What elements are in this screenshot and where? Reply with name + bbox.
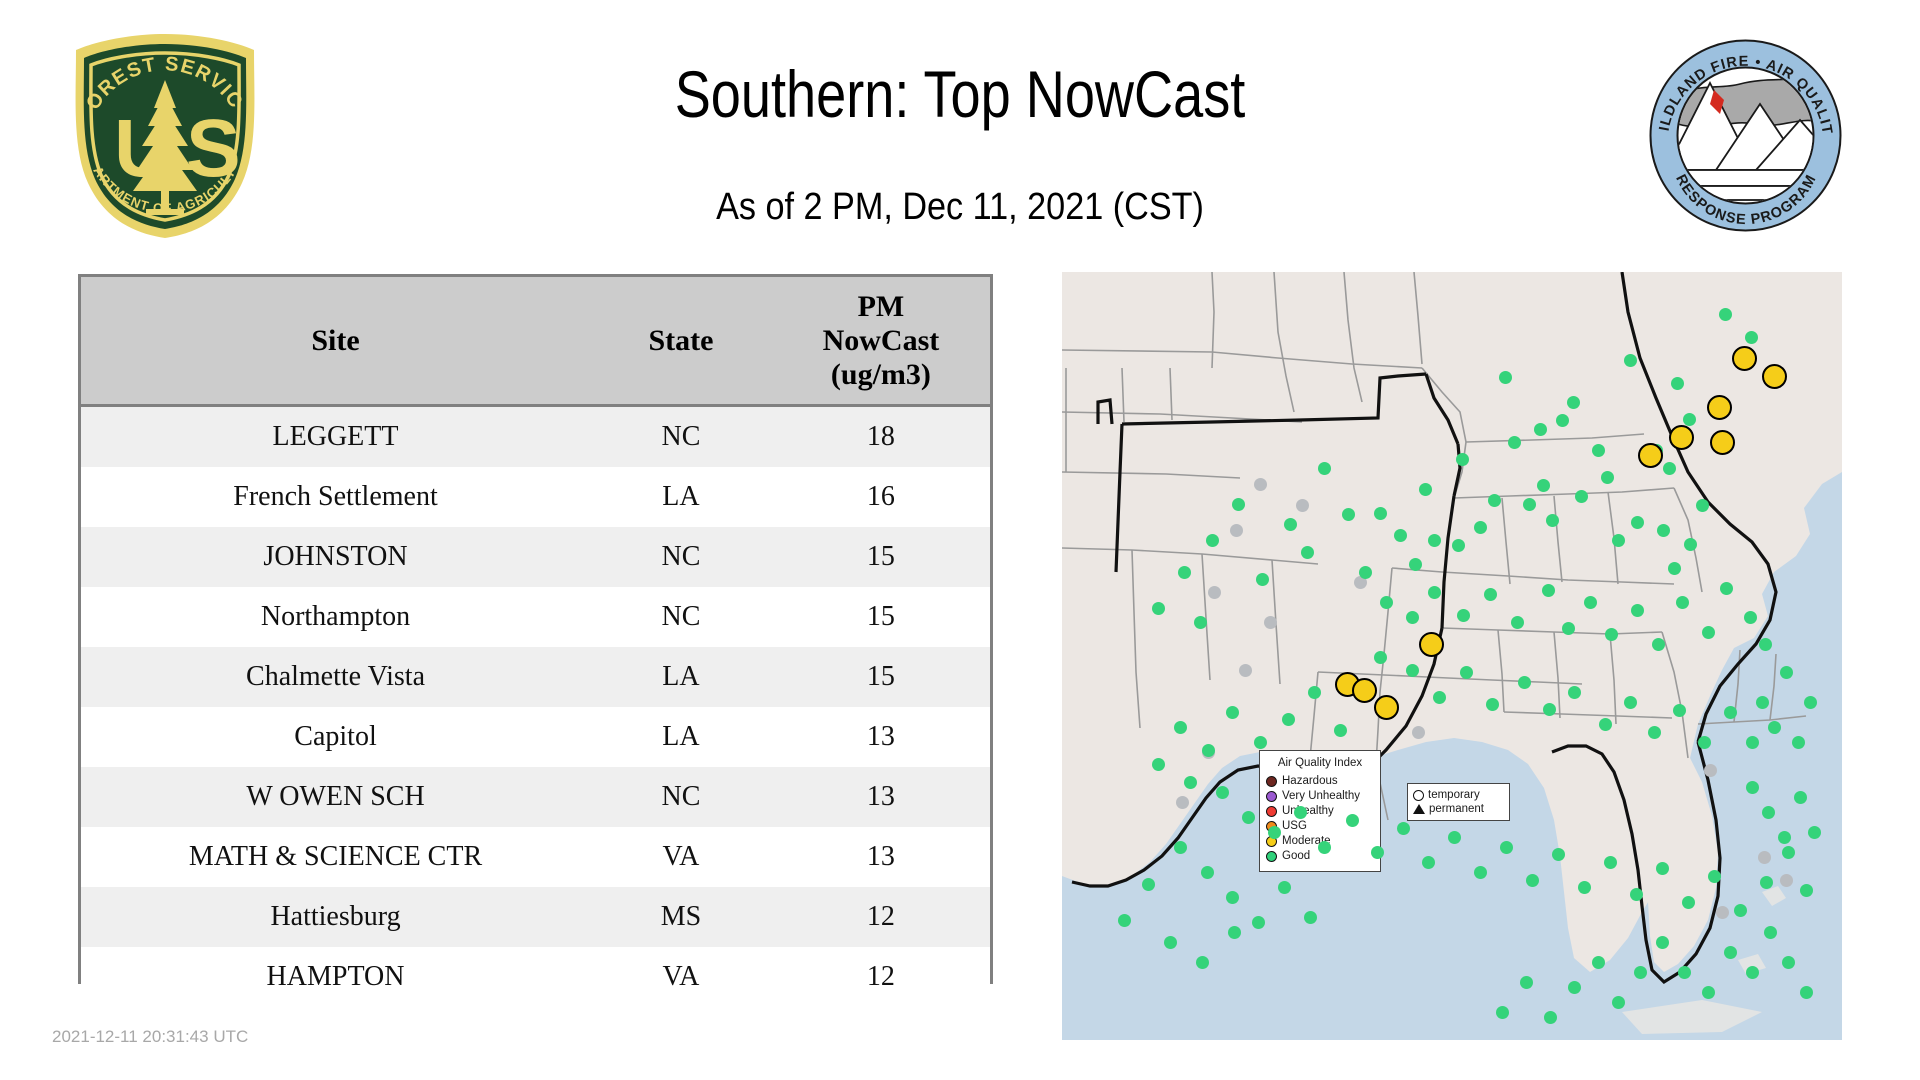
monitor-dot-good[interactable] bbox=[1698, 736, 1711, 749]
aqi-swatch-very-unhealthy bbox=[1266, 791, 1277, 802]
monitor-dot-good[interactable] bbox=[1673, 704, 1686, 717]
table-body: LEGGETTNC18 French SettlementLA16 JOHNST… bbox=[81, 406, 990, 1008]
monitor-dot-moderate[interactable] bbox=[1374, 695, 1399, 720]
monitor-dot-good[interactable] bbox=[1612, 996, 1625, 1009]
monitor-dot-good[interactable] bbox=[1724, 946, 1737, 959]
monitor-dot-good[interactable] bbox=[1256, 573, 1269, 586]
cell-pm: 13 bbox=[772, 707, 990, 767]
monitor-dot-good[interactable] bbox=[1164, 936, 1177, 949]
monitor-dot-good[interactable] bbox=[1734, 904, 1747, 917]
monitor-dot-good[interactable] bbox=[1523, 498, 1536, 511]
monitor-dot-good[interactable] bbox=[1696, 499, 1709, 512]
aqi-swatch-hazardous bbox=[1266, 776, 1277, 787]
monitor-dot-good[interactable] bbox=[1537, 479, 1550, 492]
monitor-dot-good[interactable] bbox=[1657, 524, 1670, 537]
monitor-dot-good[interactable] bbox=[1592, 444, 1605, 457]
cell-pm: 15 bbox=[772, 647, 990, 707]
monitor-dot-good[interactable] bbox=[1568, 686, 1581, 699]
monitor-dot-good[interactable] bbox=[1584, 596, 1597, 609]
monitor-dot-good[interactable] bbox=[1568, 981, 1581, 994]
monitor-dot-good[interactable] bbox=[1282, 713, 1295, 726]
monitor-dot-moderate[interactable] bbox=[1707, 395, 1732, 420]
monitor-dot-good[interactable] bbox=[1460, 666, 1473, 679]
monitor-dot-good[interactable] bbox=[1759, 638, 1772, 651]
monitor-dot-good[interactable] bbox=[1702, 626, 1715, 639]
cell-site: LEGGETT bbox=[81, 406, 590, 468]
aqi-label-good: Good bbox=[1282, 849, 1310, 864]
monitor-dot-good[interactable] bbox=[1682, 896, 1695, 909]
monitor-dot-good[interactable] bbox=[1605, 628, 1618, 641]
monitor-dot-good[interactable] bbox=[1745, 331, 1758, 344]
monitor-dot-inactive[interactable] bbox=[1716, 906, 1729, 919]
monitor-type-label-temporary: temporary bbox=[1428, 788, 1480, 802]
monitor-dot-good[interactable] bbox=[1534, 423, 1547, 436]
monitor-dot-good[interactable] bbox=[1604, 856, 1617, 869]
aqi-label-unhealthy: Unhealthy bbox=[1282, 804, 1334, 819]
table-row: W OWEN SCHNC13 bbox=[81, 767, 990, 827]
aqi-swatch-good bbox=[1266, 851, 1277, 862]
aqi-label-hazardous: Hazardous bbox=[1282, 774, 1338, 789]
aqi-legend-item-hazardous: Hazardous bbox=[1266, 774, 1374, 789]
monitor-dot-good[interactable] bbox=[1278, 881, 1291, 894]
monitor-dot-good[interactable] bbox=[1508, 436, 1521, 449]
monitor-dot-good[interactable] bbox=[1631, 604, 1644, 617]
monitor-dot-good[interactable] bbox=[1762, 806, 1775, 819]
monitor-dot-good[interactable] bbox=[1228, 926, 1241, 939]
table-row: HAMPTONVA12 bbox=[81, 947, 990, 1007]
monitor-dot-good[interactable] bbox=[1252, 916, 1265, 929]
monitor-dot-moderate[interactable] bbox=[1419, 632, 1444, 657]
cell-state: VA bbox=[590, 827, 772, 887]
circle-icon bbox=[1413, 790, 1424, 801]
monitor-dot-good[interactable] bbox=[1500, 841, 1513, 854]
monitor-type-label-permanent: permanent bbox=[1429, 802, 1484, 816]
triangle-icon bbox=[1413, 804, 1425, 814]
pm-line-3: (ug/m3) bbox=[831, 358, 931, 391]
column-header-pm-nowcast: PM NowCast (ug/m3) bbox=[772, 277, 990, 406]
monitor-dot-moderate[interactable] bbox=[1732, 346, 1757, 371]
table-header-row: Site State PM NowCast (ug/m3) bbox=[81, 277, 990, 406]
cell-site: W OWEN SCH bbox=[81, 767, 590, 827]
monitor-dot-good[interactable] bbox=[1764, 926, 1777, 939]
monitor-dot-good[interactable] bbox=[1760, 876, 1773, 889]
monitor-dot-good[interactable] bbox=[1756, 696, 1769, 709]
monitor-dot-good[interactable] bbox=[1318, 462, 1331, 475]
monitor-dot-moderate[interactable] bbox=[1638, 443, 1663, 468]
monitor-dot-good[interactable] bbox=[1724, 706, 1737, 719]
monitor-dot-good[interactable] bbox=[1511, 616, 1524, 629]
monitor-dot-good[interactable] bbox=[1663, 462, 1676, 475]
monitor-dot-good[interactable] bbox=[1746, 736, 1759, 749]
monitor-dot-good[interactable] bbox=[1746, 966, 1759, 979]
monitor-dot-good[interactable] bbox=[1542, 584, 1555, 597]
monitor-dot-good[interactable] bbox=[1294, 806, 1307, 819]
monitor-dot-good[interactable] bbox=[1782, 846, 1795, 859]
monitor-dot-good[interactable] bbox=[1562, 622, 1575, 635]
monitor-dot-good[interactable] bbox=[1552, 848, 1565, 861]
monitor-dot-good[interactable] bbox=[1304, 911, 1317, 924]
table-row: Chalmette VistaLA15 bbox=[81, 647, 990, 707]
monitor-dot-inactive[interactable] bbox=[1176, 796, 1189, 809]
monitor-dot-moderate[interactable] bbox=[1352, 678, 1377, 703]
monitor-dot-good[interactable] bbox=[1178, 566, 1191, 579]
aqi-label-very-unhealthy: Very Unhealthy bbox=[1282, 789, 1360, 804]
monitor-dot-inactive[interactable] bbox=[1230, 524, 1243, 537]
monitor-dot-inactive[interactable] bbox=[1264, 616, 1277, 629]
monitor-dot-inactive[interactable] bbox=[1704, 764, 1717, 777]
aqi-legend-title: Air Quality Index bbox=[1266, 756, 1374, 771]
monitor-dot-good[interactable] bbox=[1543, 703, 1556, 716]
monitor-dot-good[interactable] bbox=[1800, 884, 1813, 897]
table-row: LEGGETTNC18 bbox=[81, 406, 990, 468]
monitor-dot-good[interactable] bbox=[1656, 936, 1669, 949]
monitor-dot-good[interactable] bbox=[1308, 686, 1321, 699]
monitor-dot-good[interactable] bbox=[1152, 758, 1165, 771]
column-header-site: Site bbox=[81, 277, 590, 406]
monitor-dot-good[interactable] bbox=[1334, 724, 1347, 737]
monitor-dot-good[interactable] bbox=[1567, 396, 1580, 409]
monitor-dot-good[interactable] bbox=[1419, 483, 1432, 496]
monitor-dot-good[interactable] bbox=[1648, 726, 1661, 739]
monitor-dot-good[interactable] bbox=[1804, 696, 1817, 709]
monitor-dot-good[interactable] bbox=[1428, 586, 1441, 599]
monitor-dot-good[interactable] bbox=[1474, 521, 1487, 534]
monitor-dot-good[interactable] bbox=[1194, 616, 1207, 629]
monitor-dot-good[interactable] bbox=[1374, 651, 1387, 664]
monitor-dot-good[interactable] bbox=[1486, 698, 1499, 711]
monitor-dot-good[interactable] bbox=[1599, 718, 1612, 731]
monitor-dot-inactive[interactable] bbox=[1758, 851, 1771, 864]
table-row: MATH & SCIENCE CTRVA13 bbox=[81, 827, 990, 887]
table-row: JOHNSTONNC15 bbox=[81, 527, 990, 587]
monitor-dot-good[interactable] bbox=[1624, 354, 1637, 367]
cell-state: NC bbox=[590, 527, 772, 587]
monitor-dot-good[interactable] bbox=[1684, 538, 1697, 551]
monitor-dot-good[interactable] bbox=[1184, 776, 1197, 789]
table-row: HattiesburgMS12 bbox=[81, 887, 990, 947]
monitor-dot-moderate[interactable] bbox=[1762, 364, 1787, 389]
monitor-dot-good[interactable] bbox=[1782, 956, 1795, 969]
monitor-dot-good[interactable] bbox=[1496, 1006, 1509, 1019]
table-row: French SettlementLA16 bbox=[81, 467, 990, 527]
cell-site: Hattiesburg bbox=[81, 887, 590, 947]
monitor-dot-good[interactable] bbox=[1578, 881, 1591, 894]
monitor-dot-good[interactable] bbox=[1206, 534, 1219, 547]
monitor-dot-good[interactable] bbox=[1452, 539, 1465, 552]
monitor-dot-good[interactable] bbox=[1456, 453, 1469, 466]
monitor-dot-good[interactable] bbox=[1719, 308, 1732, 321]
monitor-dot-good[interactable] bbox=[1254, 736, 1267, 749]
page-title: Southern: Top NowCast bbox=[173, 58, 1747, 130]
monitor-dot-good[interactable] bbox=[1744, 611, 1757, 624]
cell-state: LA bbox=[590, 647, 772, 707]
monitor-dot-good[interactable] bbox=[1201, 866, 1214, 879]
monitor-dot-good[interactable] bbox=[1518, 676, 1531, 689]
monitor-dot-good[interactable] bbox=[1457, 609, 1470, 622]
monitor-dot-inactive[interactable] bbox=[1254, 478, 1267, 491]
monitor-dot-good[interactable] bbox=[1474, 866, 1487, 879]
monitor-dot-good[interactable] bbox=[1342, 508, 1355, 521]
cell-site: Northampton bbox=[81, 587, 590, 647]
monitor-dot-good[interactable] bbox=[1346, 814, 1359, 827]
monitor-dot-good[interactable] bbox=[1359, 566, 1372, 579]
monitor-dot-good[interactable] bbox=[1422, 856, 1435, 869]
monitor-dot-good[interactable] bbox=[1226, 706, 1239, 719]
monitor-dot-moderate[interactable] bbox=[1710, 430, 1735, 455]
monitor-dot-good[interactable] bbox=[1268, 826, 1281, 839]
monitor-type-permanent: permanent bbox=[1413, 802, 1504, 816]
cell-state: NC bbox=[590, 587, 772, 647]
aqi-legend: Air Quality Index Hazardous Very Unhealt… bbox=[1259, 750, 1381, 872]
air-quality-monitor-map[interactable]: Air Quality Index Hazardous Very Unhealt… bbox=[1062, 272, 1842, 1040]
cell-pm: 15 bbox=[772, 527, 990, 587]
monitor-dot-good[interactable] bbox=[1601, 471, 1614, 484]
top-nowcast-table: Site State PM NowCast (ug/m3) LEGGETTNC1… bbox=[78, 274, 993, 984]
monitor-dot-good[interactable] bbox=[1671, 377, 1684, 390]
monitor-dot-good[interactable] bbox=[1318, 841, 1331, 854]
cell-site: MATH & SCIENCE CTR bbox=[81, 827, 590, 887]
cell-state: MS bbox=[590, 887, 772, 947]
monitor-dot-good[interactable] bbox=[1394, 529, 1407, 542]
monitor-dot-good[interactable] bbox=[1624, 696, 1637, 709]
monitor-dot-good[interactable] bbox=[1634, 966, 1647, 979]
monitor-dot-good[interactable] bbox=[1374, 507, 1387, 520]
monitor-dot-good[interactable] bbox=[1556, 414, 1569, 427]
monitor-dot-good[interactable] bbox=[1720, 582, 1733, 595]
monitor-dot-good[interactable] bbox=[1702, 986, 1715, 999]
monitor-dot-good[interactable] bbox=[1612, 534, 1625, 547]
cell-state: NC bbox=[590, 406, 772, 468]
monitor-dot-good[interactable] bbox=[1428, 534, 1441, 547]
monitor-dot-good[interactable] bbox=[1499, 371, 1512, 384]
monitor-type-legend: temporary permanent bbox=[1407, 783, 1510, 821]
monitor-dot-good[interactable] bbox=[1406, 664, 1419, 677]
monitor-dot-good[interactable] bbox=[1656, 862, 1669, 875]
monitor-dot-good[interactable] bbox=[1142, 878, 1155, 891]
cell-site: HAMPTON bbox=[81, 947, 590, 1007]
monitor-dot-good[interactable] bbox=[1683, 413, 1696, 426]
cell-state: VA bbox=[590, 947, 772, 1007]
cell-pm: 18 bbox=[772, 406, 990, 468]
monitor-dot-good[interactable] bbox=[1792, 736, 1805, 749]
cell-pm: 15 bbox=[772, 587, 990, 647]
monitor-dot-good[interactable] bbox=[1526, 874, 1539, 887]
monitor-dot-good[interactable] bbox=[1152, 602, 1165, 615]
column-header-state: State bbox=[590, 277, 772, 406]
cell-state: LA bbox=[590, 707, 772, 767]
cell-state: NC bbox=[590, 767, 772, 827]
monitor-dot-good[interactable] bbox=[1768, 721, 1781, 734]
monitor-dot-good[interactable] bbox=[1202, 744, 1215, 757]
monitor-dot-good[interactable] bbox=[1242, 811, 1255, 824]
cell-pm: 12 bbox=[772, 947, 990, 1007]
table-row: CapitolLA13 bbox=[81, 707, 990, 767]
monitor-dot-good[interactable] bbox=[1630, 888, 1643, 901]
monitor-dot-good[interactable] bbox=[1488, 494, 1501, 507]
monitor-dot-good[interactable] bbox=[1668, 562, 1681, 575]
monitor-dot-good[interactable] bbox=[1216, 786, 1229, 799]
monitor-dot-good[interactable] bbox=[1409, 558, 1422, 571]
aqi-label-usg: USG bbox=[1282, 819, 1307, 834]
monitor-dot-good[interactable] bbox=[1544, 1011, 1557, 1024]
monitor-dot-good[interactable] bbox=[1232, 498, 1245, 511]
monitor-dot-good[interactable] bbox=[1380, 596, 1393, 609]
cell-state: LA bbox=[590, 467, 772, 527]
cell-site: French Settlement bbox=[81, 467, 590, 527]
generated-timestamp: 2021-12-11 20:31:43 UTC bbox=[52, 1027, 248, 1047]
pm-line-1: PM bbox=[858, 290, 905, 323]
monitor-type-temporary: temporary bbox=[1413, 788, 1504, 802]
cell-pm: 12 bbox=[772, 887, 990, 947]
monitor-dot-good[interactable] bbox=[1371, 846, 1384, 859]
monitor-dot-good[interactable] bbox=[1520, 976, 1533, 989]
monitor-dot-good[interactable] bbox=[1301, 546, 1314, 559]
monitor-dot-good[interactable] bbox=[1575, 490, 1588, 503]
map-basemap bbox=[1062, 272, 1842, 1040]
monitor-dot-good[interactable] bbox=[1678, 966, 1691, 979]
cell-site: Capitol bbox=[81, 707, 590, 767]
monitor-dot-good[interactable] bbox=[1118, 914, 1131, 927]
monitor-dot-good[interactable] bbox=[1226, 891, 1239, 904]
monitor-dot-good[interactable] bbox=[1780, 666, 1793, 679]
monitor-dot-good[interactable] bbox=[1676, 596, 1689, 609]
cell-pm: 13 bbox=[772, 767, 990, 827]
monitor-dot-good[interactable] bbox=[1174, 721, 1187, 734]
monitor-dot-good[interactable] bbox=[1397, 822, 1410, 835]
monitor-dot-good[interactable] bbox=[1631, 516, 1644, 529]
monitor-dot-inactive[interactable] bbox=[1208, 586, 1221, 599]
page-subtitle: As of 2 PM, Dec 11, 2021 (CST) bbox=[96, 185, 1824, 229]
monitor-dot-good[interactable] bbox=[1196, 956, 1209, 969]
monitor-dot-good[interactable] bbox=[1433, 691, 1446, 704]
monitor-dot-good[interactable] bbox=[1652, 638, 1665, 651]
aqi-legend-item-very-unhealthy: Very Unhealthy bbox=[1266, 789, 1374, 804]
monitor-dot-good[interactable] bbox=[1808, 826, 1821, 839]
monitor-dot-good[interactable] bbox=[1746, 781, 1759, 794]
cell-pm: 16 bbox=[772, 467, 990, 527]
monitor-dot-inactive[interactable] bbox=[1239, 664, 1252, 677]
table-row: NorthamptonNC15 bbox=[81, 587, 990, 647]
monitor-dot-moderate[interactable] bbox=[1669, 425, 1694, 450]
aqi-swatch-unhealthy bbox=[1266, 806, 1277, 817]
monitor-dot-good[interactable] bbox=[1484, 588, 1497, 601]
cell-site: Chalmette Vista bbox=[81, 647, 590, 707]
cell-pm: 13 bbox=[772, 827, 990, 887]
monitor-dot-good[interactable] bbox=[1546, 514, 1559, 527]
monitor-dot-good[interactable] bbox=[1448, 831, 1461, 844]
monitor-dot-inactive[interactable] bbox=[1412, 726, 1425, 739]
table-header: Site State PM NowCast (ug/m3) bbox=[81, 277, 990, 406]
monitor-dot-good[interactable] bbox=[1800, 986, 1813, 999]
monitor-dot-good[interactable] bbox=[1778, 831, 1791, 844]
nowcast-table: Site State PM NowCast (ug/m3) LEGGETTNC1… bbox=[81, 277, 990, 1007]
monitor-dot-good[interactable] bbox=[1406, 611, 1419, 624]
monitor-dot-good[interactable] bbox=[1794, 791, 1807, 804]
cell-site: JOHNSTON bbox=[81, 527, 590, 587]
monitor-dot-inactive[interactable] bbox=[1780, 874, 1793, 887]
monitor-dot-inactive[interactable] bbox=[1296, 499, 1309, 512]
monitor-dot-good[interactable] bbox=[1284, 518, 1297, 531]
monitor-dot-good[interactable] bbox=[1708, 870, 1721, 883]
monitor-dot-good[interactable] bbox=[1174, 841, 1187, 854]
pm-line-2: NowCast bbox=[823, 324, 940, 357]
monitor-dot-good[interactable] bbox=[1592, 956, 1605, 969]
